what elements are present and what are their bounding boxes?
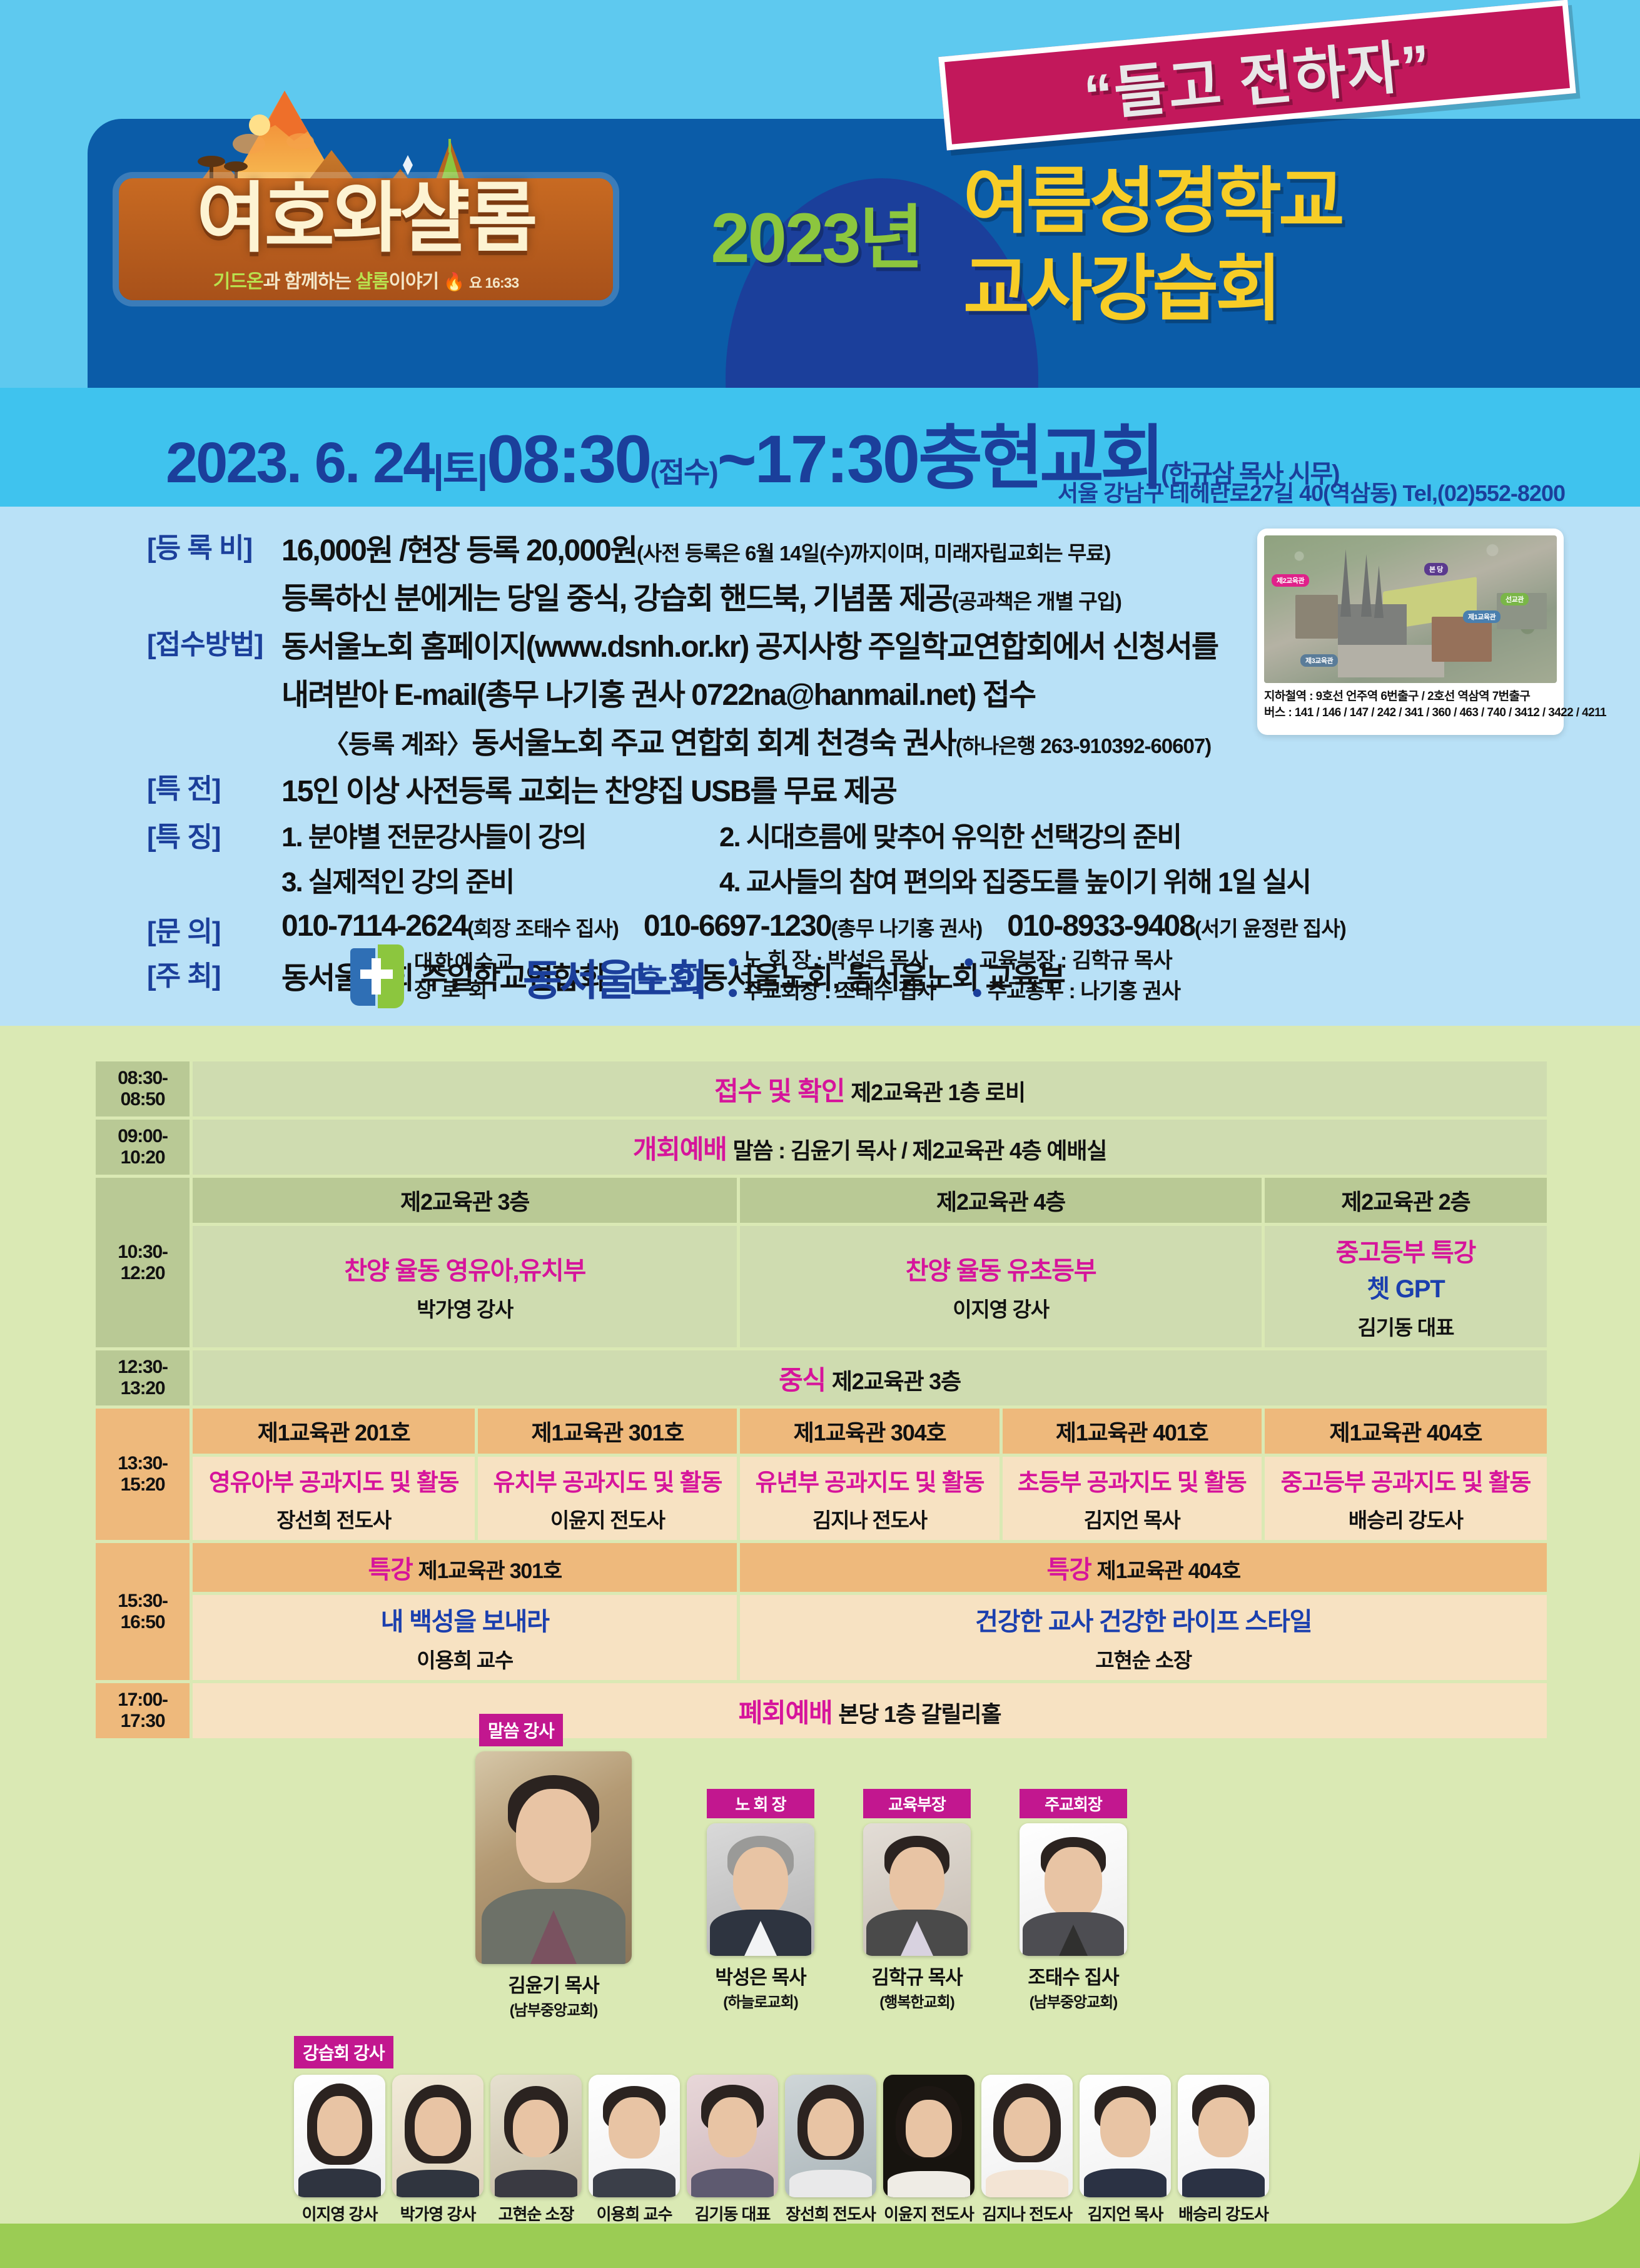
info-rows: [등 록 비] 16,000원 /현장 등록 20,000원 (사전 등록은 6…	[147, 525, 1223, 1001]
row6-header-1-tag: 특강	[368, 1556, 412, 1584]
denom-line2: 장 로 회	[414, 976, 515, 1004]
avatar-face	[516, 1789, 591, 1883]
row6-cell-2-title: 건강한 교사 건강한 라이프 스타일	[744, 1601, 1543, 1638]
fee-benefit-note: (공과책은 개별 구입)	[952, 590, 1121, 613]
main-speaker-photo	[475, 1751, 632, 1964]
instructor-name: 배승리 강도사	[1178, 2202, 1269, 2225]
instructor-name: 김지나 전도사	[981, 2202, 1073, 2225]
avatar-face	[906, 2100, 952, 2157]
bullet-icon-4: ●	[971, 982, 982, 1003]
row7-detail: 본당 1층 갈릴리홀	[838, 1701, 1001, 1727]
subway-info: 지하철역 : 9호선 언주역 6번출구 / 2호선 역삼역 7번출구	[1264, 689, 1557, 705]
fee-label: [등 록 비]	[147, 525, 281, 565]
row5-cell-5-title: 중고등부 공과지도 및 활동	[1268, 1463, 1543, 1497]
account-note: (하나은행 263-910392-60607)	[956, 734, 1212, 757]
feature-2: 2. 시대흐름에 맞추어 유익한 선택강의 준비	[719, 814, 1157, 854]
avatar-body	[1084, 2169, 1167, 2197]
row7-content: 폐회예배 본당 1층 갈릴리홀	[193, 1683, 1547, 1738]
officer-photo-1	[707, 1823, 814, 1956]
date-venue-bar: 2023. 6. 24 |토| 08:30 (접수) ~17:30 충현교회 (…	[0, 388, 1640, 507]
list-item: 김지나 전도사	[981, 2075, 1073, 2225]
transit-info: 지하철역 : 9호선 언주역 6번출구 / 2호선 역삼역 7번출구 버스 : …	[1264, 689, 1557, 721]
avatar-body	[691, 2169, 774, 2197]
logo-subtitle: 기드온과 함께하는 샬롬이야기 🔥 요 16:33	[119, 266, 613, 293]
logo-sub-1: 기드온	[213, 271, 263, 292]
fee-benefit: 등록하신 분에게는 당일 중식, 강습회 핸드북, 기념품 제공	[281, 582, 952, 615]
bullet-icon-1: ●	[727, 951, 738, 972]
fee-amount: 16,000원 /현장 등록 20,000원	[281, 534, 637, 567]
event-day: |토|	[433, 448, 487, 491]
main-speaker-name: 김윤기 목사	[475, 1970, 632, 1998]
list-item: 장선희 전도사	[785, 2075, 876, 2225]
event-time-end: ~17:30	[717, 421, 918, 497]
avatar-body	[593, 2169, 676, 2197]
row5-cell-2-title: 유치부 공과지도 및 활동	[482, 1463, 733, 1497]
fee-value: 16,000원 /현장 등록 20,000원 (사전 등록은 6월 14일(수)…	[281, 525, 1111, 569]
instructor-name: 박가영 강사	[392, 2202, 483, 2225]
officer-tag-1: 노 회 장	[707, 1789, 814, 1818]
officer-name-2: 김학규 목사	[863, 1962, 971, 1990]
row4-title: 중식	[779, 1365, 826, 1395]
table-row: 13:30-15:20 제1교육관 201호 제1교육관 301호 제1교육관 …	[96, 1409, 1547, 1454]
row3-time: 10:30-12:20	[96, 1178, 190, 1347]
special-label-1: [특 전]	[147, 766, 281, 806]
row4-detail: 제2교육관 3층	[832, 1369, 961, 1394]
info-row-fee-benefit: 등록하신 분에게는 당일 중식, 강습회 핸드북, 기념품 제공 (공과책은 개…	[147, 574, 1223, 617]
instructors-tag: 강습회 강사	[294, 2036, 393, 2068]
event-title-line2: 교사강습회	[963, 245, 1626, 333]
instructor-name: 김지언 목사	[1080, 2202, 1171, 2225]
avatar-body	[1182, 2169, 1265, 2197]
org-person-1: 노 회 장 : 박성은 목사	[743, 949, 928, 973]
row6-header-2-tag: 특강	[1046, 1556, 1091, 1584]
row6-time: 15:30-16:50	[96, 1543, 190, 1680]
avatar-body	[986, 2170, 1068, 2197]
table-row: 08:30-08:50 접수 및 확인 제2교육관 1층 로비	[96, 1061, 1547, 1116]
row5-header-4: 제1교육관 401호	[1003, 1409, 1262, 1454]
row6-cell-2: 건강한 교사 건강한 라이프 스타일 고현순 소장	[740, 1595, 1547, 1680]
feature-4: 4. 교사들의 참여 편의와 집중도를 높이기 위해 1일 실시	[719, 859, 1157, 899]
features-grid: 1. 분야별 전문강사들이 강의 2. 시대흐름에 맞추어 유익한 선택강의 준…	[281, 814, 1157, 904]
row6-cell-1-title: 내 백성을 보내라	[196, 1601, 733, 1638]
avatar-body	[397, 2170, 479, 2197]
table-row: 영유아부 공과지도 및 활동 장선희 전도사 유치부 공과지도 및 활동 이윤지…	[96, 1457, 1547, 1540]
main-speaker-card: 말씀 강사 김윤기 목사 (남부중앙교회)	[475, 1714, 632, 2020]
main-speaker-tag: 말씀 강사	[479, 1714, 563, 1746]
instructor-photo	[1080, 2075, 1171, 2197]
info-band: [등 록 비] 16,000원 /현장 등록 20,000원 (사전 등록은 6…	[0, 507, 1640, 1026]
row5-cell-3-title: 유년부 공과지도 및 활동	[744, 1463, 995, 1497]
logo-title: 여호와샬롬	[119, 180, 613, 257]
map-building-edu1	[1432, 617, 1492, 662]
info-row-apply2: 내려받아 E-mail(총무 나기홍 권사 0722na@hanmail.net…	[147, 670, 1223, 714]
event-year: 2023년	[691, 181, 941, 283]
denomination-name: 대한예수교 장 로 회	[414, 949, 515, 1004]
apply-line2: 내려받아 E-mail(총무 나기홍 권사 0722na@hanmail.net…	[281, 679, 1035, 712]
logo-plate: 여호와샬롬 기드온과 함께하는 샬롬이야기 🔥 요 16:33	[119, 178, 613, 300]
contact-who-1: (회장 조태수 집사)	[467, 917, 619, 940]
row6-cell-1-speaker: 이용희 교수	[196, 1644, 733, 1674]
avatar-body	[298, 2169, 381, 2197]
instructor-photo	[490, 2075, 582, 2197]
row5-cell-4-title: 초등부 공과지도 및 활동	[1006, 1463, 1258, 1497]
officer-name-3: 조태수 집사	[1020, 1962, 1127, 1990]
poster-root: 여호와샬롬 기드온과 함께하는 샬롬이야기 🔥 요 16:33 “들고 전하자”…	[0, 0, 1640, 2268]
instructor-name: 이윤지 전도사	[883, 2202, 974, 2225]
row4-time: 12:30-13:20	[96, 1350, 190, 1405]
table-row: 찬양 율동 영유아,유치부 박가영 강사 찬양 율동 유초등부 이지영 강사 중…	[96, 1226, 1547, 1347]
instructor-name: 장선희 전도사	[785, 2202, 876, 2225]
table-row: 09:00-10:20 개회예배 말씀 : 김윤기 목사 / 제2교육관 4층 …	[96, 1120, 1547, 1175]
officer-tag-2: 교육부장	[863, 1789, 971, 1818]
row1-time: 08:30-08:50	[96, 1061, 190, 1116]
info-row-fee: [등 록 비] 16,000원 /현장 등록 20,000원 (사전 등록은 6…	[147, 525, 1223, 569]
apply-value: 동서울노회 홈페이지(www.dsnh.or.kr) 공지사항 주일학교연합회에…	[281, 622, 1218, 666]
row5-cell-1: 영유아부 공과지도 및 활동 장선희 전도사	[193, 1457, 475, 1540]
avatar-body	[888, 2171, 970, 2197]
row3-header-2: 제2교육관 4층	[740, 1178, 1261, 1223]
avatar-face	[889, 1847, 944, 1916]
avatar-face	[1045, 1847, 1102, 1917]
list-item: 박가영 강사	[392, 2075, 483, 2225]
row5-cell-2-speaker: 이윤지 전도사	[482, 1504, 733, 1534]
special-value-1: 15인 이상 사전등록 교회는 찬양집 USB를 무료 제공	[281, 775, 896, 808]
table-row: 17:00-17:30 폐회예배 본당 1층 갈릴리홀	[96, 1683, 1547, 1738]
row4-content: 중식 제2교육관 3층	[193, 1350, 1547, 1405]
apply-line1: 동서울노회 홈페이지(www.dsnh.or.kr) 공지사항 주일학교연합회에…	[281, 630, 1218, 664]
org-person-3: 주교회장 : 조태수 집사	[743, 980, 936, 1003]
row5-cell-1-title: 영유아부 공과지도 및 활동	[196, 1463, 471, 1497]
slogan-text: “들고 전하자”	[1080, 18, 1435, 133]
event-time-start: 08:30	[487, 421, 650, 497]
row6-cell-2-speaker: 고현순 소장	[744, 1644, 1543, 1674]
bus-info: 버스 : 141 / 146 / 147 / 242 / 341 / 360 /…	[1264, 705, 1557, 721]
church-cross-logo-icon	[350, 944, 404, 1008]
apply-label: [접수방법]	[147, 622, 281, 662]
org-people-list: ● 노 회 장 : 박성은 목사 ● 교육부장 : 김학규 목사 ● 주교회장 …	[727, 946, 1180, 1008]
info-row-account: 〈등록 계좌〉 동서울노회 주교 연합회 회계 천경숙 권사 (하나은행 263…	[147, 718, 1223, 762]
list-item: 이용희 교수	[589, 2075, 680, 2225]
instructor-photo	[785, 2075, 876, 2197]
event-date: 2023. 6. 24	[166, 431, 433, 495]
avatar-face	[513, 2100, 559, 2157]
special-value-1-wrap: 15인 이상 사전등록 교회는 찬양집 USB를 무료 제공	[281, 766, 896, 810]
avatar-face	[1198, 2097, 1248, 2157]
instructor-photo	[1178, 2075, 1269, 2197]
row5-cell-5: 중고등부 공과지도 및 활동 배승리 강도사	[1265, 1457, 1547, 1540]
avatar-face	[733, 1847, 788, 1916]
bullet-icon-2: ●	[963, 951, 974, 972]
list-item: 김기동 대표	[687, 2075, 778, 2225]
instructor-photo	[981, 2075, 1073, 2197]
org-person-4: 주교총무 : 나기홍 권사	[988, 980, 1180, 1003]
row2-detail: 말씀 : 김윤기 목사 / 제2교육관 4층 예배실	[733, 1138, 1107, 1163]
row3-cell-3-title2: 쳇 GPT	[1268, 1268, 1543, 1305]
map-label-edu2: 제2교육관	[1272, 574, 1309, 587]
instructor-name: 고현순 소장	[490, 2202, 582, 2225]
row3-cell-2-speaker: 이지영 강사	[744, 1293, 1257, 1323]
table-row: 내 백성을 보내라 이용희 교수 건강한 교사 건강한 라이프 스타일 고현순 …	[96, 1595, 1547, 1680]
aerial-map-photo: 제2교육관 본 당 선교관 제1교육관 제3교육관	[1264, 535, 1557, 683]
instructor-name: 이지영 강사	[294, 2202, 385, 2225]
logo-sub-3: 샬롬	[355, 271, 388, 292]
event-title: 여름성경학교 교사강습회	[963, 158, 1626, 333]
contact-phone-2[interactable]: 010-6697-1230	[644, 909, 831, 943]
row3-cell-1-title: 찬양 율동 영유아,유치부	[196, 1250, 733, 1287]
row1-detail: 제2교육관 1층 로비	[851, 1080, 1025, 1105]
avatar-face	[807, 2098, 854, 2156]
map-label-main-hall: 본 당	[1424, 563, 1448, 575]
flame-icon: 🔥	[443, 272, 465, 291]
info-row-features: [특 징] 1. 분야별 전문강사들이 강의 2. 시대흐름에 맞추어 유익한 …	[147, 814, 1223, 904]
avatar-body	[495, 2170, 577, 2197]
instructor-name: 김기동 대표	[687, 2202, 778, 2225]
row6-header-1-room: 제1교육관 301호	[418, 1559, 561, 1583]
row5-header-2: 제1교육관 301호	[478, 1409, 737, 1454]
row3-cell-3: 중고등부 특강 쳇 GPT 김기동 대표	[1265, 1226, 1547, 1347]
officer-tag-3: 주교회장	[1020, 1789, 1127, 1818]
officer-church-2: (행복한교회)	[863, 1990, 971, 2012]
features-line-1: 1. 분야별 전문강사들이 강의 2. 시대흐름에 맞추어 유익한 선택강의 준…	[281, 814, 1157, 859]
officer-photo-3	[1020, 1823, 1127, 1956]
row3-cell-3-title: 중고등부 특강	[1268, 1232, 1543, 1268]
row5-cell-3-speaker: 김지나 전도사	[744, 1504, 995, 1534]
logo-verse: 요 16:33	[469, 275, 519, 291]
list-item: 배승리 강도사	[1178, 2075, 1269, 2225]
table-row: 12:30-13:20 중식 제2교육관 3층	[96, 1350, 1547, 1405]
contact-phone-3[interactable]: 010-8933-9408	[1007, 909, 1195, 943]
map-plaza	[1338, 645, 1444, 677]
info-row-contact: [문 의] 010-7114-2624 (회장 조태수 집사) 010-6697…	[147, 909, 1223, 949]
row3-cell-1-speaker: 박가영 강사	[196, 1293, 733, 1323]
avatar-face	[609, 2097, 660, 2159]
event-title-line1: 여름성경학교	[963, 158, 1626, 245]
officer-card: 노 회 장 박성은 목사 (하늘로교회)	[707, 1789, 814, 2012]
org-person-2: 교육부장 : 김학규 목사	[979, 949, 1172, 973]
row2-content: 개회예배 말씀 : 김윤기 목사 / 제2교육관 4층 예배실	[193, 1120, 1547, 1175]
presbytery-name: 동서울노회	[523, 946, 706, 1008]
account-value: 동서울노회 주교 연합회 회계 천경숙 권사	[472, 727, 955, 760]
table-row: 10:30-12:20 제2교육관 3층 제2교육관 4층 제2교육관 2층	[96, 1178, 1547, 1223]
organization-bar: 대한예수교 장 로 회 동서울노회 ● 노 회 장 : 박성은 목사 ● 교육부…	[350, 944, 1180, 1008]
logo-sub-2: 과 함께하는	[263, 271, 356, 292]
avatar-face	[317, 2096, 362, 2156]
officer-name-1: 박성은 목사	[707, 1962, 814, 1990]
instructor-name: 이용희 교수	[589, 2202, 680, 2225]
account-label: 〈등록 계좌〉	[323, 730, 472, 759]
instructors-row: 이지영 강사 박가영 강사 고현순 소장	[294, 2075, 1269, 2225]
row3-cell-1: 찬양 율동 영유아,유치부 박가영 강사	[193, 1226, 737, 1347]
special-label-2: [특 징]	[147, 814, 281, 854]
instructor-photo	[589, 2075, 680, 2197]
row6-header-2: 특강 제1교육관 404호	[740, 1543, 1547, 1592]
row1-title: 접수 및 확인	[714, 1076, 844, 1106]
location-map-card: 제2교육관 본 당 선교관 제1교육관 제3교육관 지하철역 : 9호선 언주역…	[1257, 529, 1564, 735]
officer-church-1: (하늘로교회)	[707, 1990, 814, 2012]
row5-header-3: 제1교육관 304호	[740, 1409, 999, 1454]
row3-cell-3-speaker: 김기동 대표	[1268, 1311, 1543, 1341]
instructor-photo	[687, 2075, 778, 2197]
info-row-special: [특 전] 15인 이상 사전등록 교회는 찬양집 USB를 무료 제공	[147, 766, 1223, 810]
officer-card: 주교회장 조태수 집사 (남부중앙교회)	[1020, 1789, 1127, 2012]
row3-cell-2: 찬양 율동 유초등부 이지영 강사	[740, 1226, 1261, 1347]
map-label-edu3: 제3교육관	[1300, 654, 1338, 667]
contact-phone-1[interactable]: 010-7114-2624	[281, 909, 467, 943]
host-label: [주 최]	[147, 953, 281, 993]
row7-title: 폐회예배	[739, 1698, 833, 1728]
avatar-face	[415, 2097, 461, 2156]
row5-cell-4: 초등부 공과지도 및 활동 김지언 목사	[1003, 1457, 1262, 1540]
row5-cell-2: 유치부 공과지도 및 활동 이윤지 전도사	[478, 1457, 737, 1540]
table-row: 15:30-16:50 특강 제1교육관 301호 특강 제1교육관 404호	[96, 1543, 1547, 1592]
avatar-body	[789, 2170, 872, 2197]
list-item: 이윤지 전도사	[883, 2075, 974, 2225]
fee-note: (사전 등록은 6월 14일(수)까지이며, 미래자립교회는 무료)	[637, 542, 1111, 565]
main-speaker-church: (남부중앙교회)	[475, 1998, 632, 2020]
row7-time: 17:00-17:30	[96, 1683, 190, 1738]
contact-who-2: (총무 나기홍 권사)	[831, 917, 982, 940]
instructor-photo	[392, 2075, 483, 2197]
instructors-section: 강습회 강사 이지영 강사 박가영 강사	[294, 2036, 1269, 2225]
row6-header-2-room: 제1교육관 404호	[1096, 1559, 1240, 1583]
contact-who-3: (서기 윤정란 집사)	[1195, 917, 1346, 940]
avatar-face	[708, 2097, 757, 2157]
org-people-line1: ● 노 회 장 : 박성은 목사 ● 교육부장 : 김학규 목사	[727, 946, 1180, 976]
logo-sub-4: 이야기	[388, 271, 438, 292]
officer-photo-2	[863, 1823, 971, 1956]
bullet-icon-3: ●	[727, 982, 738, 1003]
row3-header-3: 제2교육관 2층	[1265, 1178, 1547, 1223]
contact-label: [문 의]	[147, 909, 281, 949]
list-item: 김지언 목사	[1080, 2075, 1171, 2225]
feature-3: 3. 실제적인 강의 준비	[281, 859, 719, 899]
list-item: 이지영 강사	[294, 2075, 385, 2225]
row5-cell-4-speaker: 김지언 목사	[1006, 1504, 1258, 1534]
denom-line1: 대한예수교	[414, 949, 515, 976]
map-label-edu1: 제1교육관	[1463, 610, 1501, 623]
row2-title: 개회예배	[633, 1135, 727, 1164]
row2-time: 09:00-10:20	[96, 1120, 190, 1175]
row5-header-1: 제1교육관 201호	[193, 1409, 475, 1454]
contact-values: 010-7114-2624 (회장 조태수 집사) 010-6697-1230 …	[281, 909, 1346, 943]
row5-cell-3: 유년부 공과지도 및 활동 김지나 전도사	[740, 1457, 999, 1540]
instructor-photo	[883, 2075, 974, 2197]
officers-list: 노 회 장 박성은 목사 (하늘로교회) 교육부장 김학규 목사 (행복한교회)…	[707, 1789, 1127, 2012]
feature-1: 1. 분야별 전문강사들이 강의	[281, 814, 719, 854]
officer-church-3: (남부중앙교회)	[1020, 1990, 1127, 2012]
row3-cell-2-title: 찬양 율동 유초등부	[744, 1250, 1257, 1287]
avatar-face	[1004, 2097, 1050, 2156]
venue-address: 서울 강남구 테헤란로27길 40(역삼동) Tel,(02)552-8200	[1058, 475, 1565, 508]
vbs-logo: 여호와샬롬 기드온과 함께하는 샬롬이야기 🔥 요 16:33	[94, 81, 607, 294]
row5-cell-5-speaker: 배승리 강도사	[1268, 1504, 1543, 1534]
instructor-photo	[294, 2075, 385, 2197]
schedule-table: 08:30-08:50 접수 및 확인 제2교육관 1층 로비 09:00-10…	[93, 1058, 1550, 1741]
info-row-apply: [접수방법] 동서울노회 홈페이지(www.dsnh.or.kr) 공지사항 주…	[147, 622, 1223, 666]
map-building-edu2	[1295, 595, 1338, 639]
officer-card: 교육부장 김학규 목사 (행복한교회)	[863, 1789, 971, 2012]
features-line-2: 3. 실제적인 강의 준비 4. 교사들의 참여 편의와 집중도를 높이기 위해…	[281, 859, 1157, 904]
row6-header-1: 특강 제1교육관 301호	[193, 1543, 737, 1592]
row3-header-1: 제2교육관 3층	[193, 1178, 737, 1223]
list-item: 고현순 소장	[490, 2075, 582, 2225]
row1-content: 접수 및 확인 제2교육관 1층 로비	[193, 1061, 1547, 1116]
avatar-face	[1100, 2097, 1150, 2157]
row5-header-5: 제1교육관 404호	[1265, 1409, 1547, 1454]
row5-time: 13:30-15:20	[96, 1409, 190, 1540]
org-people-line2: ● 주교회장 : 조태수 집사 ● 주교총무 : 나기홍 권사	[727, 976, 1180, 1007]
event-time-start-note: (접수)	[650, 456, 717, 489]
map-label-mission: 선교관	[1501, 593, 1529, 605]
row5-cell-1-speaker: 장선희 전도사	[196, 1504, 471, 1534]
row6-cell-1: 내 백성을 보내라 이용희 교수	[193, 1595, 737, 1680]
